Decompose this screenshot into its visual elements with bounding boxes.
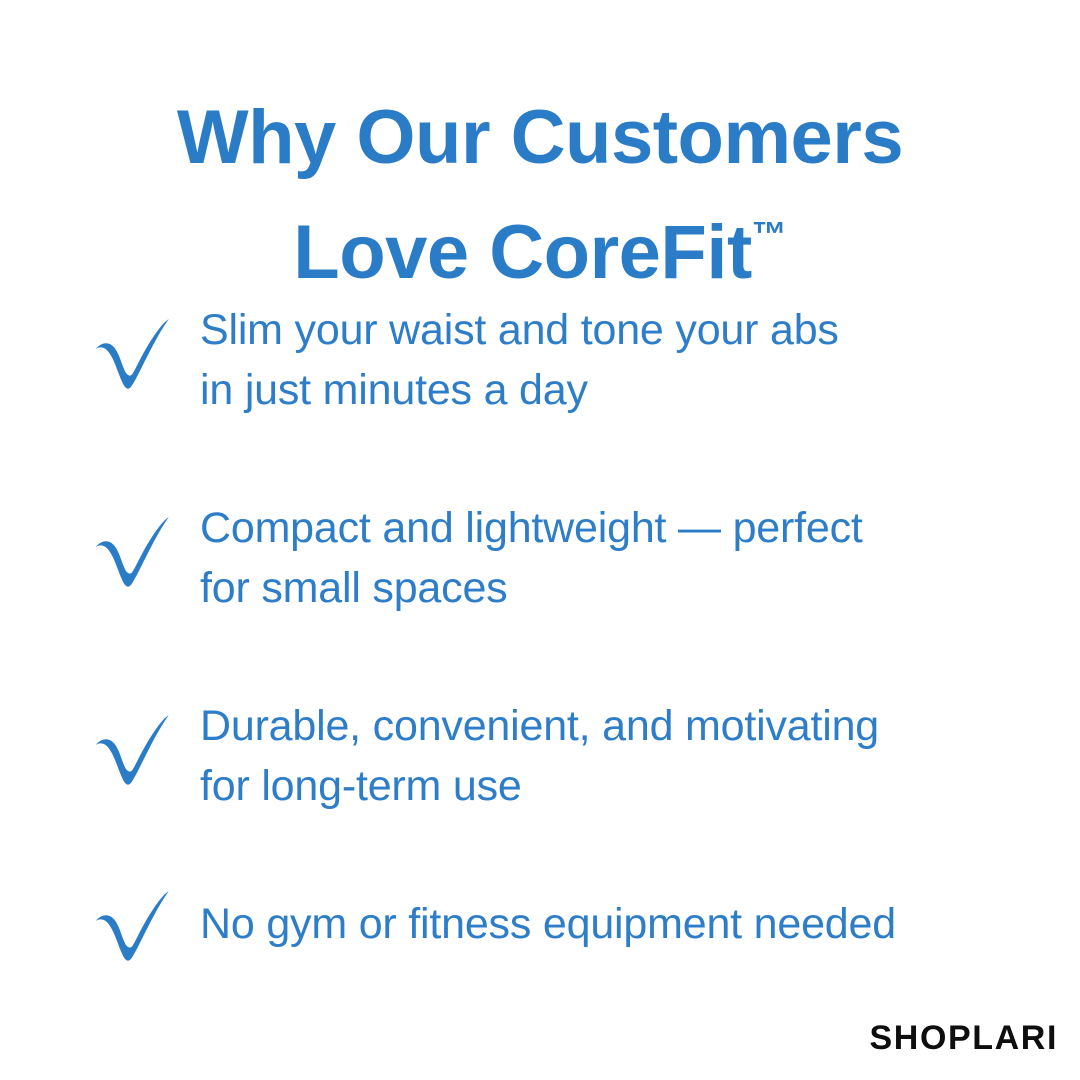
trademark-symbol: ™: [752, 215, 787, 254]
list-item-label: Slim your waist and tone your abs in jus…: [200, 300, 1040, 420]
list-item-label: Durable, convenient, and motivating for …: [200, 696, 1040, 816]
checkmark-icon: [88, 316, 174, 392]
page-title-line-2: Love CoreFit™: [0, 186, 1080, 301]
list-item-label: Compact and lightweight — perfect for sm…: [200, 498, 1040, 618]
checkmark-icon: [88, 888, 174, 964]
list-item: Compact and lightweight — perfect for sm…: [0, 498, 1080, 618]
brand-wordmark: SHOPLARI: [870, 1018, 1058, 1058]
checkmark-icon: [88, 514, 174, 590]
benefits-list: Slim your waist and tone your abs in jus…: [0, 300, 1080, 999]
list-item-label: No gym or fitness equipment needed: [200, 894, 1040, 954]
page-title-line-2-main: Love CoreFit: [293, 210, 752, 295]
page-title-line-1: Why Our Customers: [0, 89, 1080, 186]
list-item: Slim your waist and tone your abs in jus…: [0, 300, 1080, 420]
checkmark-icon: [88, 712, 174, 788]
promo-card: Why Our Customers Love CoreFit™ Slim you…: [0, 0, 1080, 1080]
list-item: No gym or fitness equipment needed: [0, 894, 1080, 999]
list-item: Durable, convenient, and motivating for …: [0, 696, 1080, 816]
page-title: Why Our Customers Love CoreFit™: [0, 89, 1080, 301]
